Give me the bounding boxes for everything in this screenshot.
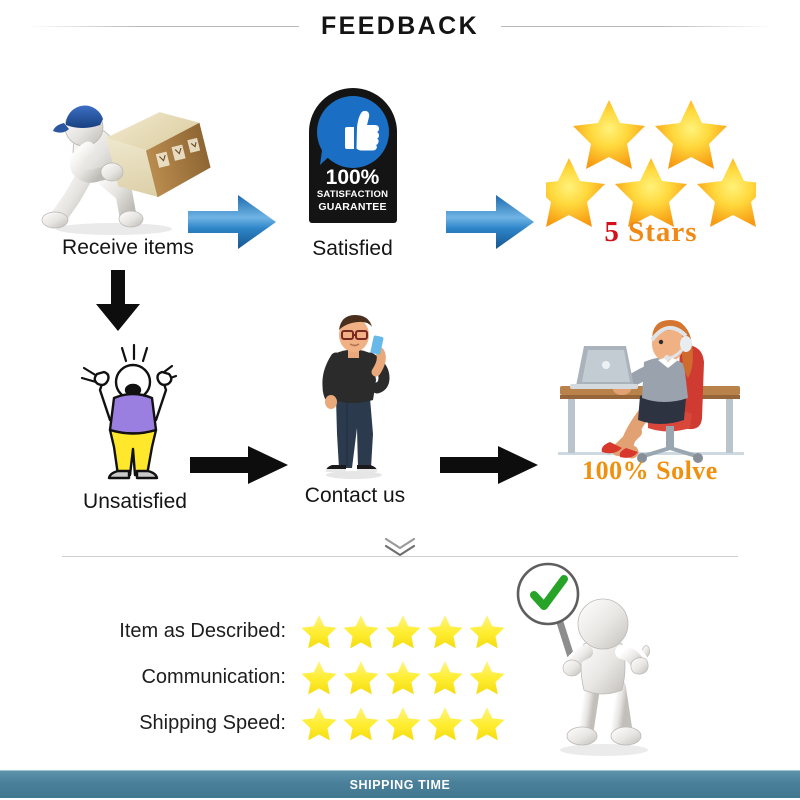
man-on-phone-icon bbox=[300, 310, 410, 480]
double-chevron-down-icon bbox=[381, 536, 419, 558]
thumbs-up-icon bbox=[331, 108, 379, 154]
shipping-time-banner: SHIPPING TIME bbox=[0, 770, 800, 798]
satisfaction-guarantee-badge-icon: 100% SATISFACTION GUARANTEE bbox=[309, 88, 397, 223]
header-rule-left bbox=[29, 26, 299, 27]
star-icon bbox=[468, 659, 506, 695]
badge-subline-1: SATISFACTION bbox=[309, 189, 397, 200]
star-icon bbox=[300, 613, 338, 649]
solve-label: 100% Solve bbox=[540, 456, 760, 486]
rating-label: Communication: bbox=[96, 666, 300, 689]
flow-step-contact-us: Contact us bbox=[285, 310, 425, 508]
star-icon bbox=[300, 705, 338, 741]
feedback-flow: Receive items bbox=[0, 58, 800, 528]
step-caption: Unsatisfied bbox=[45, 490, 225, 514]
rating-row: Shipping Speed: bbox=[96, 700, 516, 746]
ratings-list: Item as Described: Communication: Shippi… bbox=[96, 608, 516, 746]
flow-step-satisfied: 100% SATISFACTION GUARANTEE Satisfied bbox=[265, 88, 440, 261]
page-title: FEEDBACK bbox=[299, 12, 501, 41]
rating-stars bbox=[300, 659, 506, 695]
badge-subline-2: GUARANTEE bbox=[309, 201, 397, 213]
rating-stars bbox=[300, 705, 506, 741]
star-icon bbox=[300, 659, 338, 695]
page-header: FEEDBACK bbox=[0, 0, 800, 52]
star-icon bbox=[426, 705, 464, 741]
star-icon bbox=[468, 613, 506, 649]
badge-percent: 100% bbox=[309, 166, 397, 190]
star-icon bbox=[426, 659, 464, 695]
star-icon bbox=[342, 659, 380, 695]
feedback-infographic: FEEDBACK bbox=[0, 0, 800, 800]
header-rule-right bbox=[501, 26, 771, 27]
star-icon bbox=[384, 613, 422, 649]
star-icon bbox=[342, 705, 380, 741]
star-icon bbox=[384, 705, 422, 741]
star-icon bbox=[342, 613, 380, 649]
black-arrow-right-icon bbox=[190, 443, 290, 492]
rating-row: Item as Described: bbox=[96, 608, 516, 654]
step-caption: Contact us bbox=[285, 484, 425, 508]
unsatisfied-person-icon bbox=[70, 334, 200, 484]
rating-label: Shipping Speed: bbox=[96, 712, 300, 735]
shipping-time-label: SHIPPING TIME bbox=[350, 778, 451, 792]
step-caption: Satisfied bbox=[265, 237, 440, 261]
black-arrow-right-icon bbox=[440, 443, 540, 492]
rating-stars bbox=[300, 613, 506, 649]
rating-label: Item as Described: bbox=[96, 620, 300, 643]
five-stars-icon: 5 Stars bbox=[546, 94, 756, 254]
support-agent-icon: 100% Solve bbox=[540, 310, 760, 485]
flow-step-five-stars: 5 Stars bbox=[546, 94, 758, 254]
star-icon bbox=[468, 705, 506, 741]
five-stars-word: Stars bbox=[628, 216, 697, 248]
star-icon bbox=[426, 613, 464, 649]
blue-arrow-right-icon bbox=[444, 191, 536, 253]
flow-step-solve: 100% Solve bbox=[540, 310, 762, 485]
person-with-check-magnifier-icon bbox=[512, 558, 692, 758]
five-stars-label: 5 Stars bbox=[546, 216, 756, 249]
star-icon bbox=[384, 659, 422, 695]
black-arrow-down-icon bbox=[92, 270, 144, 337]
section-divider bbox=[62, 556, 738, 557]
rating-row: Communication: bbox=[96, 654, 516, 700]
five-stars-number: 5 bbox=[604, 216, 620, 248]
